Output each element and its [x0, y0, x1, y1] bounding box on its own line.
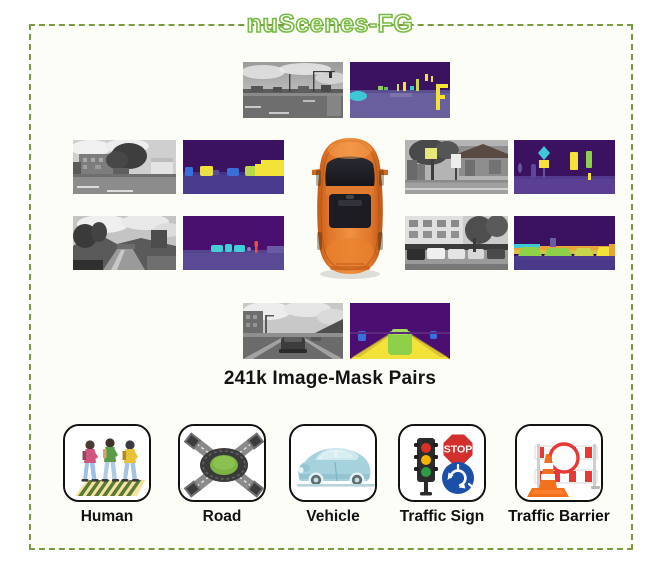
segmentation-mask-intersection	[350, 62, 450, 118]
segmentation-mask-distant-cars	[183, 216, 284, 270]
category-vehicle[interactable]: Vehicle	[289, 424, 377, 526]
segmentation-mask-traffic-signs	[514, 140, 615, 194]
segmentation-mask-parked-cars	[514, 216, 615, 270]
category-label: Human	[63, 508, 151, 526]
dataset-caption: 241k Image-Mask Pairs	[0, 368, 660, 390]
category-label: Traffic Sign	[378, 508, 506, 526]
category-label: Vehicle	[273, 508, 393, 526]
category-label: Traffic Barrier	[495, 508, 623, 526]
traffic-cone-barrier-icon	[515, 424, 603, 502]
ego-vehicle-top-view	[300, 132, 400, 280]
grayscale-hillside-road-photo	[73, 216, 176, 270]
vintage-car-icon	[289, 424, 377, 502]
category-label: Road	[178, 508, 266, 526]
grayscale-highway-ahead-photo	[243, 303, 343, 359]
category-traffic-sign[interactable]: STOP	[398, 424, 486, 526]
category-traffic-barrier[interactable]: Traffic Barrier	[515, 424, 603, 526]
svg-text:STOP: STOP	[444, 444, 472, 456]
grayscale-street-intersection-photo	[243, 62, 343, 118]
grayscale-building-street-photo	[73, 140, 176, 194]
pedestrian-crosswalk-icon	[63, 424, 151, 502]
category-human[interactable]: Human	[63, 424, 151, 526]
grayscale-roadside-signs-photo	[405, 140, 508, 194]
road-intersection-icon	[178, 424, 266, 502]
figure-title: nuScenes-FG	[0, 10, 660, 39]
traffic-light-stop-sign-icon: STOP	[398, 424, 486, 502]
category-row: Human	[43, 424, 623, 542]
segmentation-mask-road-and-car	[350, 303, 450, 359]
grayscale-parked-cars-photo	[405, 216, 508, 270]
category-road[interactable]: Road	[178, 424, 266, 526]
segmentation-mask-parked-trucks	[183, 140, 284, 194]
nuscenes-fg-figure: nuScenes-FG	[0, 0, 660, 578]
